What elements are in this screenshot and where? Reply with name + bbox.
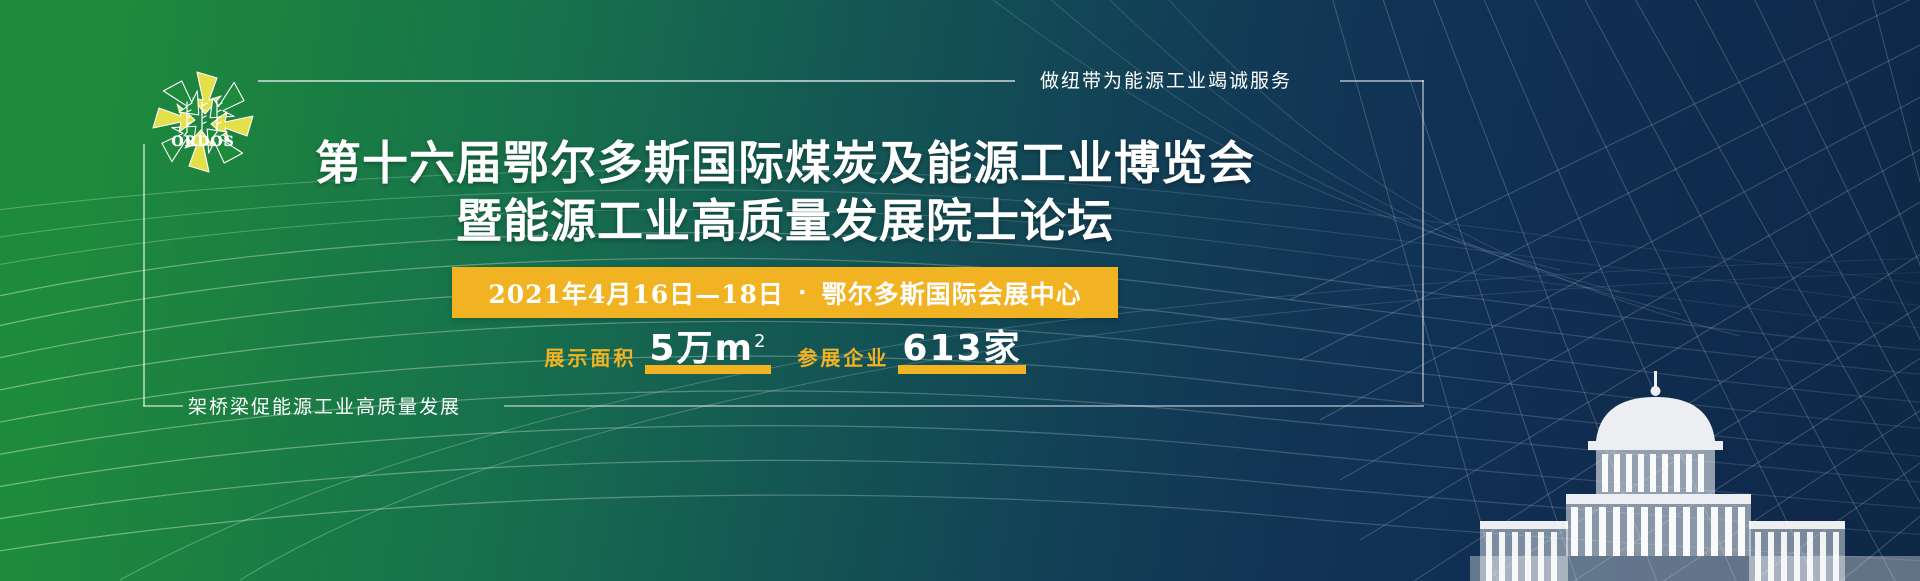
exhibition-banner: ORDOS 做纽带为能源工业竭诚服务 架桥梁促能源工业高质量发展 第十六届鄂尔多… <box>0 0 1920 581</box>
stat-label-exhibitor-count: 参展企业 <box>797 342 889 374</box>
stat-exhibition-area: 展示面积 5万m2 <box>544 322 771 374</box>
stat-value-wrap-exhibitor-count: 613家 <box>898 329 1025 374</box>
stats-row: 展示面积 5万m2 参展企业 613家 <box>452 326 1118 374</box>
event-venue: 鄂尔多斯国际会展中心 <box>822 275 1082 311</box>
stat-value-superscript-exhibition-area: 2 <box>754 331 767 352</box>
event-date: 2021年4月16日—18日 <box>488 275 784 311</box>
stat-value-exhibition-area: 5万m2 <box>649 328 767 369</box>
title-line-1: 第十六届鄂尔多斯国际煤炭及能源工业博览会 <box>0 134 1570 192</box>
bottom-right-horizontal-rule <box>504 405 1424 407</box>
convention-center-dome-illustration <box>1360 371 1920 581</box>
stat-exhibitor-count: 参展企业 613家 <box>797 329 1025 374</box>
top-right-horizontal-rule <box>1340 80 1424 82</box>
title-line-2: 暨能源工业高质量发展院士论坛 <box>0 192 1570 250</box>
top-left-horizontal-rule <box>258 80 1015 82</box>
date-venue-bar: 2021年4月16日—18日 · 鄂尔多斯国际会展中心 <box>452 267 1118 318</box>
stat-value-wrap-exhibition-area: 5万m2 <box>645 322 771 374</box>
stat-value-exhibitor-count: 613家 <box>902 328 1021 369</box>
bottom-left-horizontal-rule <box>143 405 183 407</box>
page-title: 第十六届鄂尔多斯国际煤炭及能源工业博览会 暨能源工业高质量发展院士论坛 <box>0 134 1570 250</box>
date-venue-separator: · <box>784 278 822 307</box>
tagline-top: 做纽带为能源工业竭诚服务 <box>1040 66 1292 93</box>
stat-label-exhibition-area: 展示面积 <box>544 342 636 374</box>
tagline-bottom: 架桥梁促能源工业高质量发展 <box>188 392 461 419</box>
stat-value-text-exhibition-area: 5万m <box>649 328 754 369</box>
